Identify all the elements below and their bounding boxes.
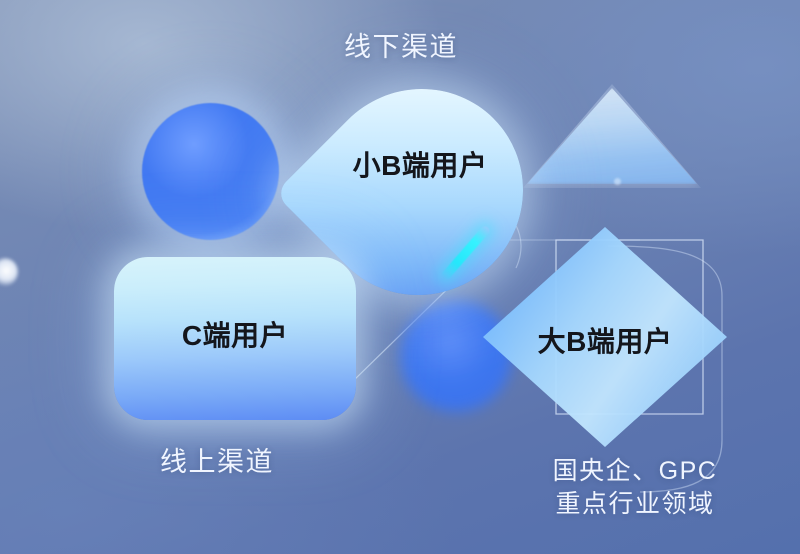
node-big-b[interactable]: 大B端用户 [483,227,727,447]
caption-online-channel: 线上渠道 [160,440,274,479]
glow-dot-top-right-icon [614,178,621,185]
caption-big-b-line2: 重点行业领域 [535,488,735,521]
caption-big-b-segments: 国央企、GPC 重点行业领域 [535,455,735,521]
diagram-canvas: 小B端用户 C端用户 大B端用户 线下渠道 线上渠道 国央企、GPC 重点行业领… [0,0,800,554]
node-big-b-label: 大B端用户 [483,320,727,360]
node-c-end[interactable]: C端用户 [114,257,356,420]
decorative-triangle [527,88,697,184]
glow-dot-left-icon [0,258,18,286]
node-small-b-label: 小B端用户 [318,144,522,184]
caption-big-b-line1: 国央企、GPC [535,455,735,488]
caption-offline-channel: 线下渠道 [344,25,458,64]
decorative-circle-top [142,103,279,240]
node-c-end-label: C端用户 [114,314,356,354]
